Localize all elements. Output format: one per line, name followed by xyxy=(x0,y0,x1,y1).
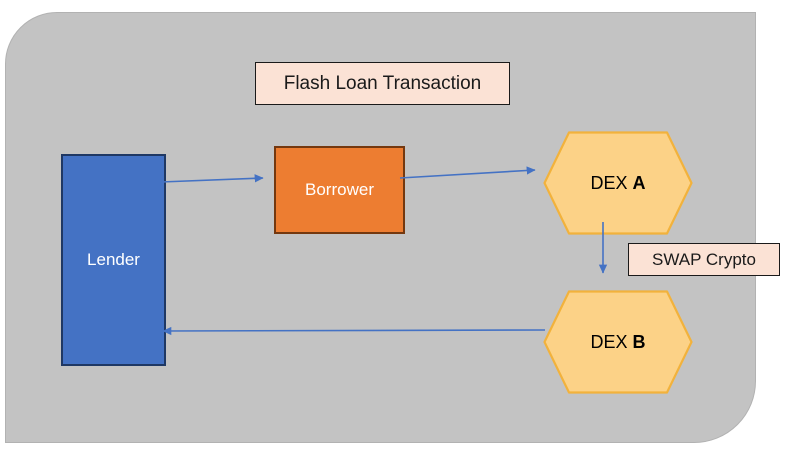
node-lender-label: Lender xyxy=(87,250,140,270)
title-callout: Flash Loan Transaction xyxy=(255,62,510,105)
node-borrower-label: Borrower xyxy=(305,180,374,200)
node-lender[interactable]: Lender xyxy=(61,154,166,366)
hexagon-shape-icon xyxy=(543,131,693,235)
node-dex-a[interactable]: DEX A xyxy=(543,131,693,235)
node-dex-b[interactable]: DEX B xyxy=(543,290,693,394)
node-borrower[interactable]: Borrower xyxy=(274,146,405,234)
swap-crypto-text: SWAP Crypto xyxy=(652,250,756,270)
hexagon-shape-icon xyxy=(543,290,693,394)
diagram-canvas: Flash Loan Transaction Lender Borrower D… xyxy=(0,0,808,456)
swap-crypto-callout: SWAP Crypto xyxy=(628,243,780,276)
title-text: Flash Loan Transaction xyxy=(284,73,482,95)
slide-panel: Flash Loan Transaction Lender Borrower D… xyxy=(5,12,756,443)
